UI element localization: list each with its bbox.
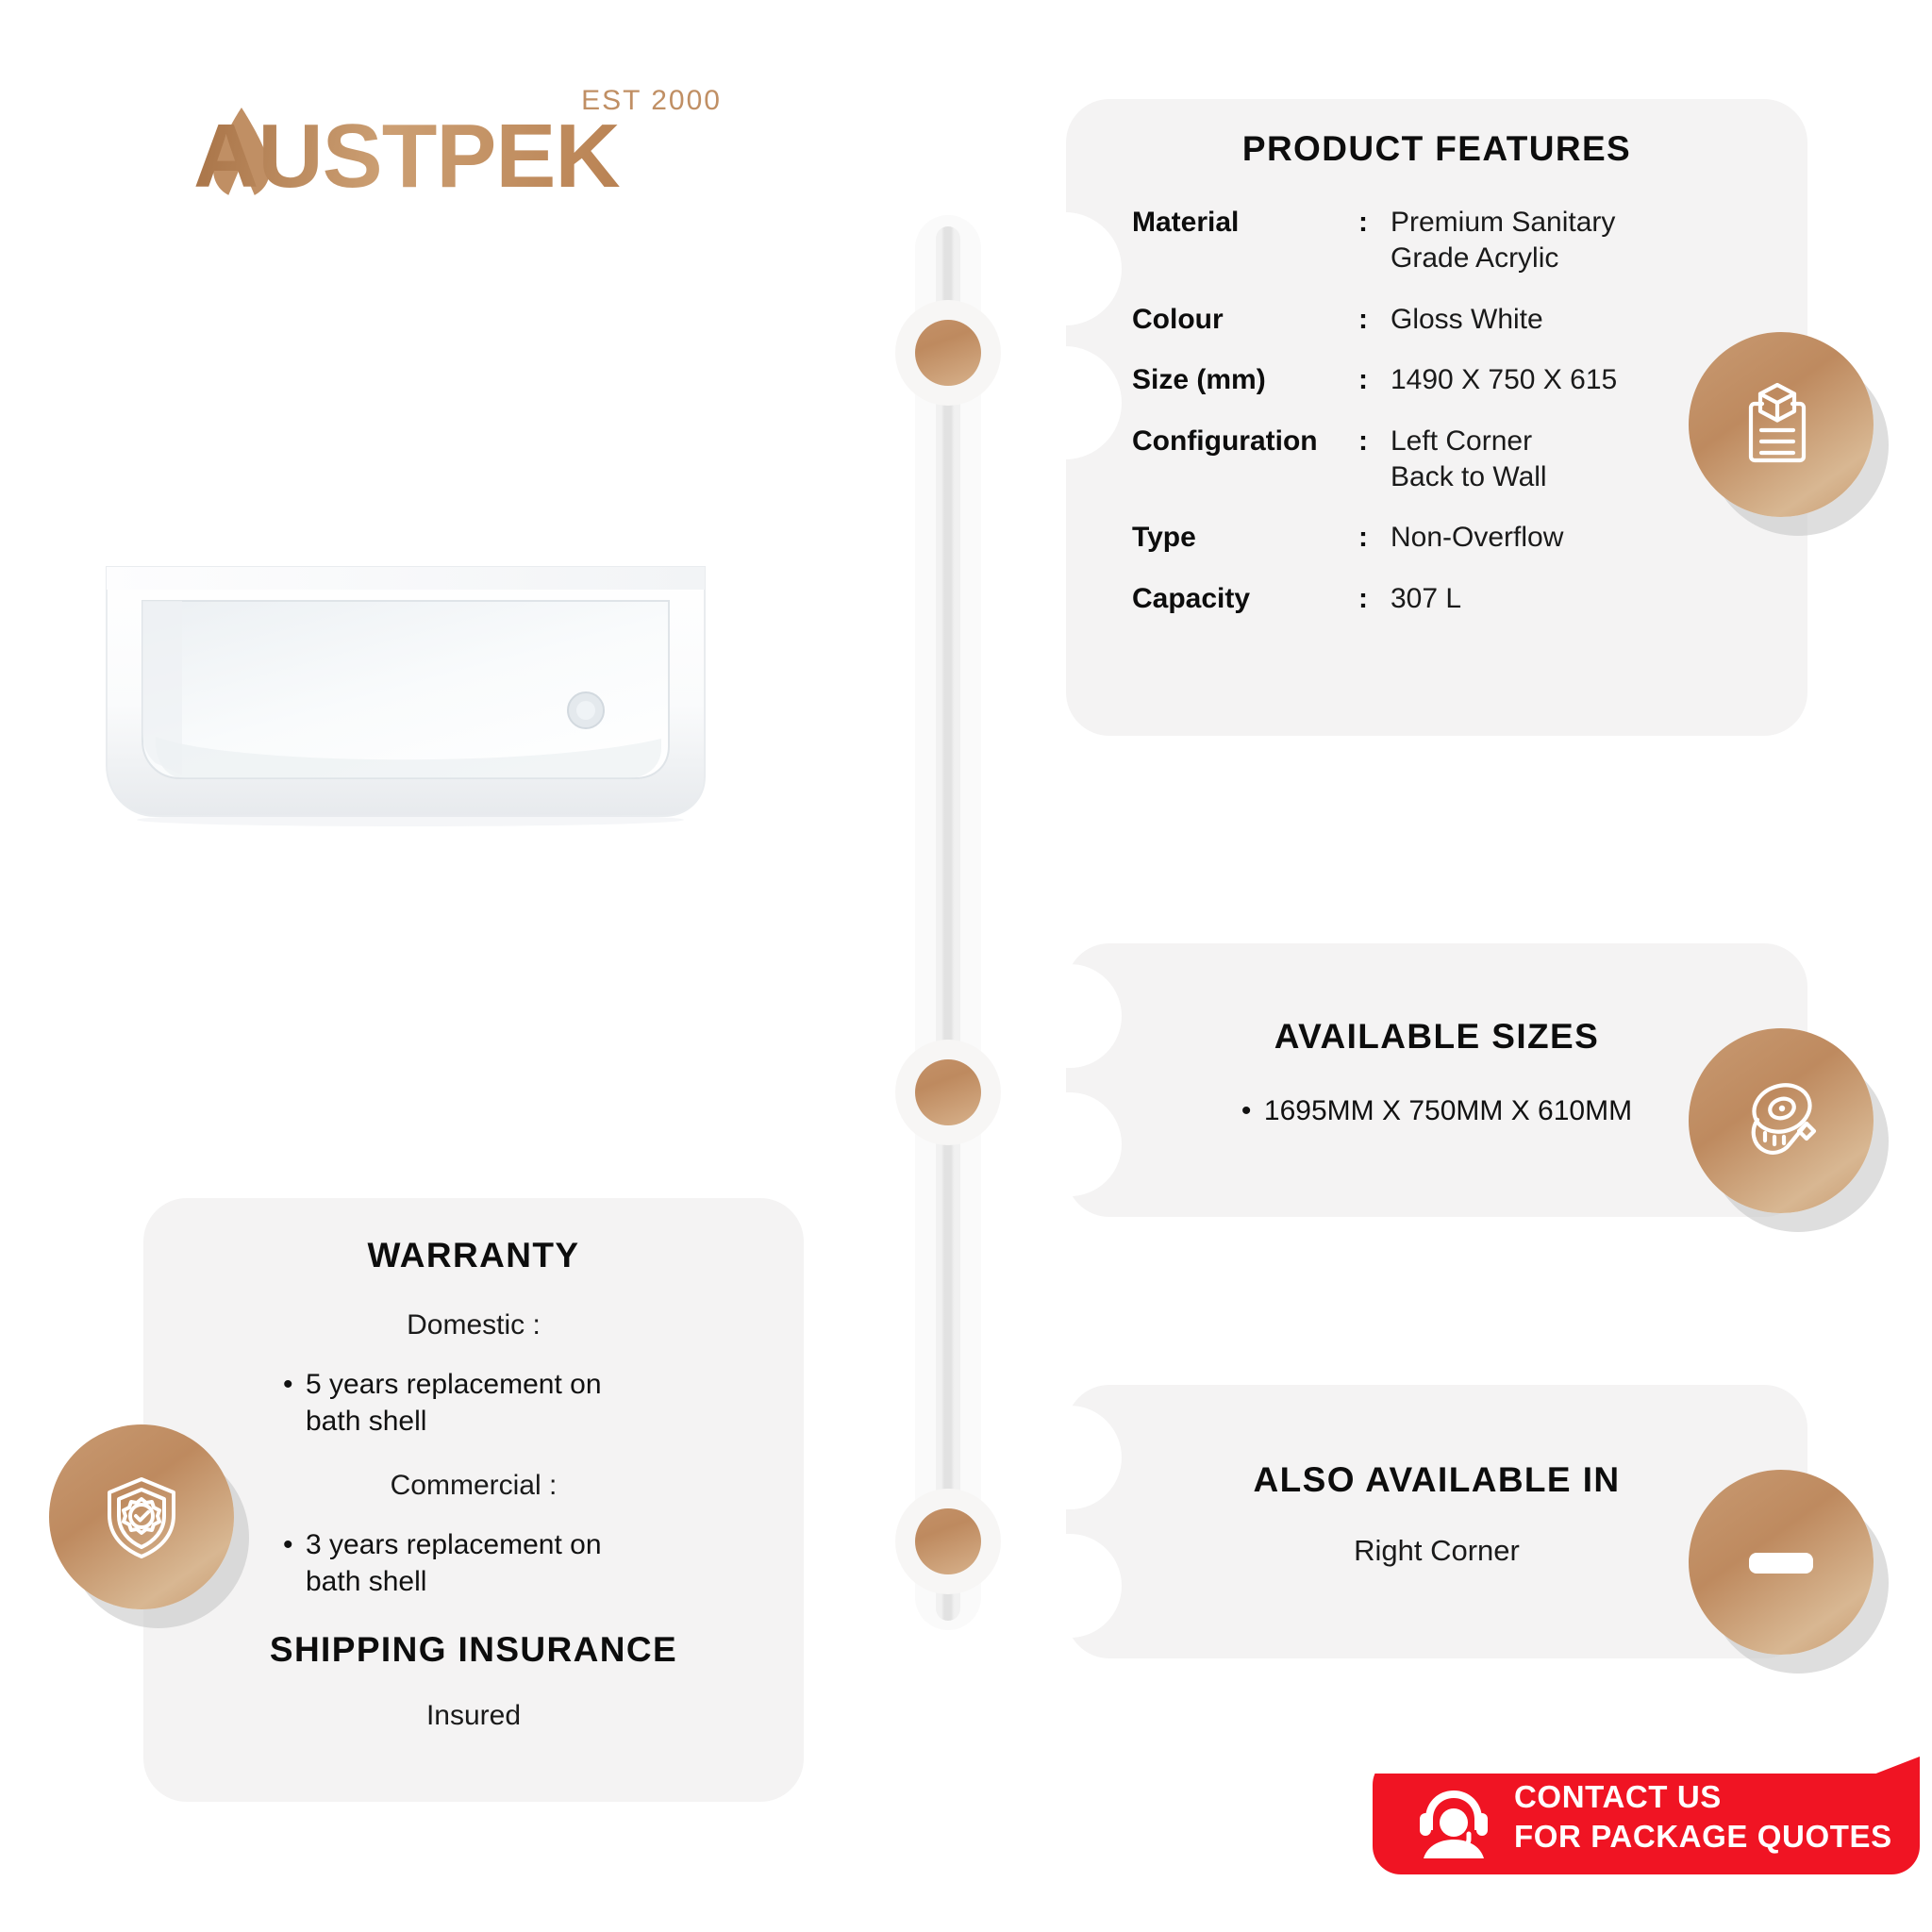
table-row: Material : Premium Sanitary Grade Acryli… [1132, 205, 1792, 277]
feature-colon: : [1358, 205, 1391, 241]
feature-label: Configuration [1132, 424, 1358, 459]
panel-notch-top [1065, 212, 1122, 325]
feature-label: Colour [1132, 302, 1358, 338]
feature-colon: : [1358, 302, 1391, 338]
warranty-commercial-label: Commercial : [143, 1470, 804, 1502]
table-row: Type : Non-Overflow [1132, 520, 1792, 556]
warranty-domestic-item: 5 years replacement on bath shell [306, 1366, 602, 1440]
connector-node-also [895, 1489, 1001, 1594]
connector-node-features [895, 300, 1001, 406]
table-row: Capacity : 307 L [1132, 581, 1792, 617]
feature-value: Left Corner Back to Wall [1391, 424, 1547, 496]
contact-line-2: FOR PACKAGE QUOTES [1514, 1817, 1892, 1857]
feature-value: Premium Sanitary Grade Acrylic [1391, 205, 1615, 277]
contact-line-1: CONTACT US [1514, 1777, 1892, 1817]
node-dot [915, 1508, 981, 1574]
list-bullet: • [1241, 1092, 1264, 1129]
contact-banner-text: CONTACT US FOR PACKAGE QUOTES [1514, 1777, 1892, 1857]
infographic-canvas: EST 2000 AUSTPEK [0, 0, 1932, 1932]
node-dot [915, 1059, 981, 1125]
node-dot [915, 320, 981, 386]
brand-name: AUSTPEK [193, 111, 620, 202]
warranty-domestic-label: Domestic : [143, 1309, 804, 1341]
page-title-warranty: WARRANTY [143, 1236, 804, 1275]
feature-colon: : [1358, 362, 1391, 398]
page-title-available-sizes: AVAILABLE SIZES [1066, 1017, 1807, 1057]
also-available-panel: ALSO AVAILABLE IN Right Corner [1066, 1385, 1807, 1658]
feature-value: Non-Overflow [1391, 520, 1563, 556]
contact-us-banner[interactable]: CONTACT US FOR PACKAGE QUOTES [1373, 1757, 1920, 1874]
list-bullet: • [283, 1366, 306, 1403]
feature-value: 1490 X 750 X 615 [1391, 362, 1617, 398]
product-document-box-icon [1689, 332, 1874, 517]
warranty-commercial-item: 3 years replacement on bath shell [306, 1526, 602, 1600]
feature-value: 307 L [1391, 581, 1461, 617]
bathtub-illustration [99, 552, 797, 873]
measuring-tape-icon [1689, 1028, 1874, 1213]
connector-rail [936, 226, 960, 1621]
feature-colon: : [1358, 581, 1391, 617]
feature-colon: : [1358, 520, 1391, 556]
warranty-panel: WARRANTY Domestic : • 5 years replacemen… [143, 1198, 804, 1802]
shield-check-icon [49, 1424, 234, 1609]
page-title-shipping-insurance: SHIPPING INSURANCE [143, 1630, 804, 1670]
page-title-also-available: ALSO AVAILABLE IN [1066, 1460, 1807, 1500]
list-item: • 5 years replacement on bath shell [283, 1366, 774, 1440]
headset-support-icon [1412, 1785, 1495, 1858]
page-title-product-features: PRODUCT FEATURES [1066, 129, 1807, 169]
feature-label: Type [1132, 520, 1358, 556]
list-bullet: • [283, 1526, 306, 1563]
shipping-insurance-value: Insured [143, 1700, 804, 1732]
table-row: Colour : Gloss White [1132, 302, 1792, 338]
list-item: • 3 years replacement on bath shell [283, 1526, 774, 1600]
feature-value: Gloss White [1391, 302, 1543, 338]
size-value: 1695MM X 750MM X 610MM [1264, 1092, 1632, 1129]
feature-colon: : [1358, 424, 1391, 459]
feature-label: Material [1132, 205, 1358, 241]
connector-node-sizes [895, 1040, 1001, 1145]
feature-label: Size (mm) [1132, 362, 1358, 398]
feature-label: Capacity [1132, 581, 1358, 617]
bathtub-shape-icon [1689, 1470, 1874, 1655]
brand-logo: EST 2000 AUSTPEK [193, 85, 722, 208]
panel-notch-bottom [1065, 346, 1122, 459]
available-sizes-panel: AVAILABLE SIZES • 1695MM X 750MM X 610MM [1066, 943, 1807, 1217]
